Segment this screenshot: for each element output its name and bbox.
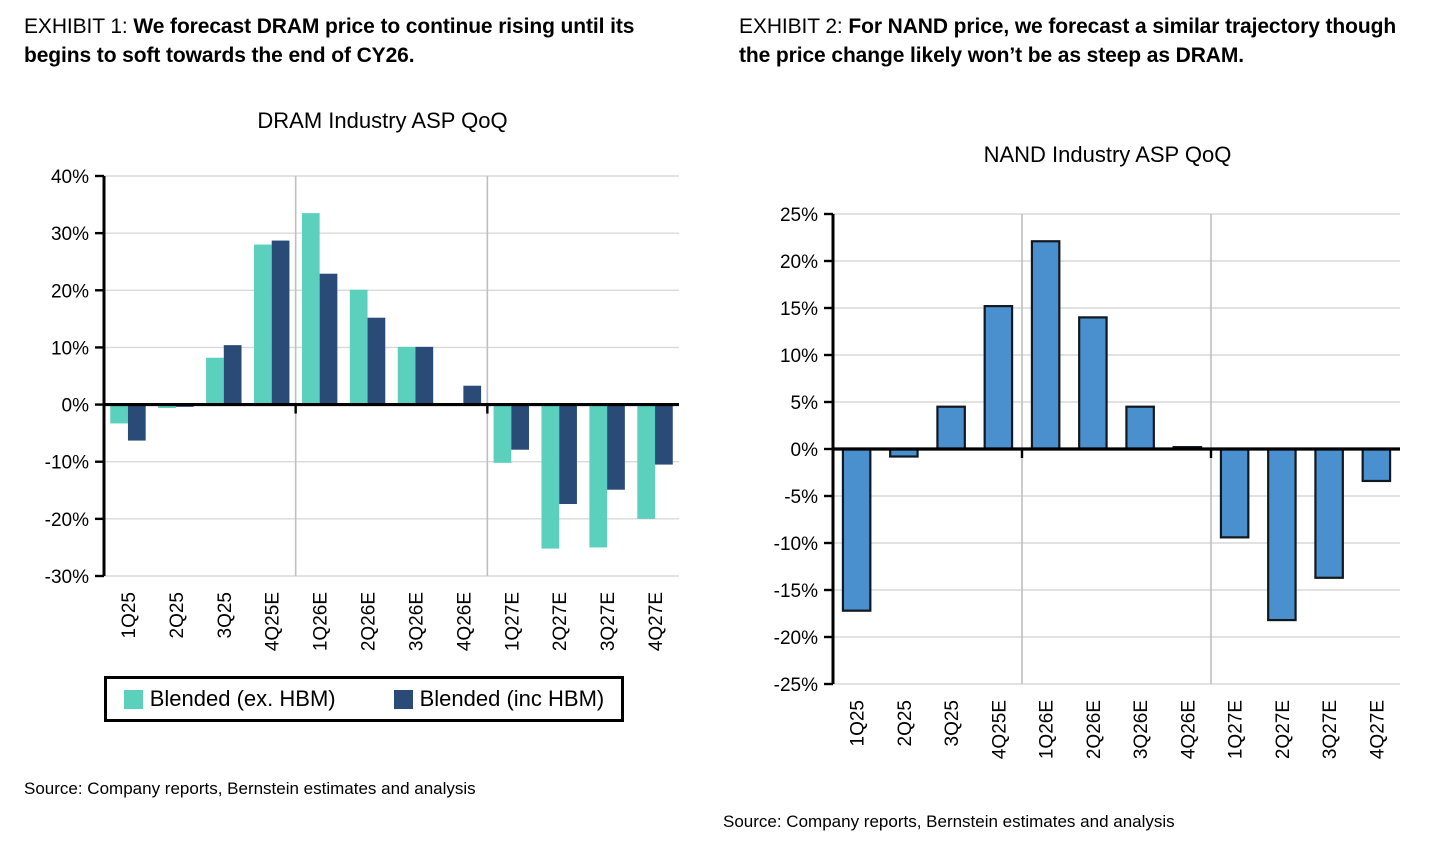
x-axis-category-label: 1Q27E [1226,700,1247,759]
exhibit-2-heading: EXHIBIT 2: For NAND price, we forecast a… [715,0,1430,70]
bar [224,345,242,404]
x-axis-category-label: 4Q26E [1178,700,1199,759]
bar [1315,449,1342,578]
bar [1079,317,1106,449]
exhibit-1-label: EXHIBIT 1: [24,15,128,38]
y-axis-tick-label: 25% [780,205,818,226]
x-axis-category-label: 4Q25E [263,592,284,651]
x-axis-category-label: 3Q27E [1320,700,1341,759]
y-axis-tick-label: 0% [62,396,90,417]
exhibit-page: EXHIBIT 1: We forecast DRAM price to con… [0,0,1430,862]
bar [368,318,386,405]
y-axis-tick-label: 20% [780,252,818,273]
bar [398,347,416,405]
y-axis-tick-label: -5% [784,487,818,508]
exhibit-1-heading: EXHIBIT 1: We forecast DRAM price to con… [0,0,715,70]
y-axis-tick-label: 15% [780,299,818,320]
bar [272,241,290,405]
y-axis-tick-label: -10% [774,534,818,555]
x-axis-category-label: 3Q26E [1131,700,1152,759]
bar [128,405,146,441]
bar [541,405,559,549]
x-axis-category-label: 2Q26E [359,592,380,651]
y-axis-tick-label: -15% [774,581,818,602]
x-axis-category-label: 2Q27E [550,592,571,651]
x-axis-category-label: 4Q25E [989,700,1010,759]
y-axis-tick-label: 40% [51,167,89,188]
nand-chart-title: NAND Industry ASP QoQ [715,142,1430,168]
exhibit-2-panel: EXHIBIT 2: For NAND price, we forecast a… [715,0,1430,862]
bar [302,213,320,404]
bar [415,347,433,405]
dram-asp-bar-chart: 40%30%20%10%0%-10%-20%-30%1Q252Q253Q254Q… [0,134,715,694]
legend-swatch-blended-inc-hbm [394,690,413,709]
exhibit-2-source: Source: Company reports, Bernstein estim… [723,812,1175,832]
nand-chart-container: NAND Industry ASP QoQ 25%20%15%10%5%0%-5… [715,142,1430,782]
bar [110,405,128,424]
bar [607,405,625,490]
bar [350,290,368,405]
exhibit-1-source: Source: Company reports, Bernstein estim… [24,779,476,799]
x-axis-category-label: 1Q25 [848,700,869,746]
x-axis-category-label: 2Q27E [1273,700,1294,759]
legend-label-blended-ex-hbm: Blended (ex. HBM) [150,686,336,712]
bar [1221,449,1248,537]
bar [206,358,224,405]
bar [1032,241,1059,449]
bar [843,449,870,611]
bar [463,386,481,405]
y-axis-tick-label: 20% [51,281,89,302]
y-axis-tick-label: -10% [45,453,89,474]
y-axis-tick-label: -30% [45,567,89,588]
dram-chart-title: DRAM Industry ASP QoQ [0,108,715,134]
x-axis-category-label: 3Q25 [215,592,236,638]
nand-asp-bar-chart: 25%20%15%10%5%0%-5%-10%-15%-20%-25%1Q252… [715,168,1430,768]
bar [655,405,673,465]
x-axis-category-label: 3Q26E [406,592,427,651]
bar [1363,449,1390,481]
x-axis-category-label: 4Q26E [454,592,475,651]
bar [985,306,1012,449]
dram-chart-legend: Blended (ex. HBM) Blended (inc HBM) [104,676,624,722]
bar [637,405,655,519]
dram-chart-container: DRAM Industry ASP QoQ 40%30%20%10%0%-10%… [0,108,715,708]
x-axis-category-label: 2Q25 [895,700,916,746]
bar [937,407,964,449]
y-axis-tick-label: -25% [774,675,818,696]
x-axis-category-label: 4Q27E [646,592,667,651]
legend-item-blended-inc-hbm: Blended (inc HBM) [394,686,605,712]
y-axis-tick-label: -20% [774,628,818,649]
bar [494,405,512,463]
x-axis-category-label: 1Q26E [1037,700,1058,759]
y-axis-tick-label: -20% [45,510,89,531]
exhibit-2-label: EXHIBIT 2: [739,15,843,38]
x-axis-category-label: 2Q26E [1084,700,1105,759]
x-axis-category-label: 1Q27E [502,592,523,651]
x-axis-category-label: 3Q27E [598,592,619,651]
y-axis-tick-label: 10% [780,346,818,367]
x-axis-category-label: 2Q25 [167,592,188,638]
bar [1126,407,1153,449]
x-axis-category-label: 1Q25 [119,592,140,638]
bar [254,245,272,405]
bar [320,274,338,405]
bar [511,405,529,450]
x-axis-category-label: 4Q27E [1367,700,1388,759]
x-axis-category-label: 1Q26E [311,592,332,651]
y-axis-tick-label: 10% [51,338,89,359]
bar [1268,449,1295,620]
legend-label-blended-inc-hbm: Blended (inc HBM) [420,686,605,712]
legend-swatch-blended-ex-hbm [124,690,143,709]
bar [559,405,577,504]
bar [589,405,607,548]
y-axis-tick-label: 5% [791,393,819,414]
legend-item-blended-ex-hbm: Blended (ex. HBM) [124,686,336,712]
y-axis-tick-label: 0% [791,440,819,461]
exhibit-1-panel: EXHIBIT 1: We forecast DRAM price to con… [0,0,715,862]
x-axis-category-label: 3Q25 [942,700,963,746]
y-axis-tick-label: 30% [51,224,89,245]
